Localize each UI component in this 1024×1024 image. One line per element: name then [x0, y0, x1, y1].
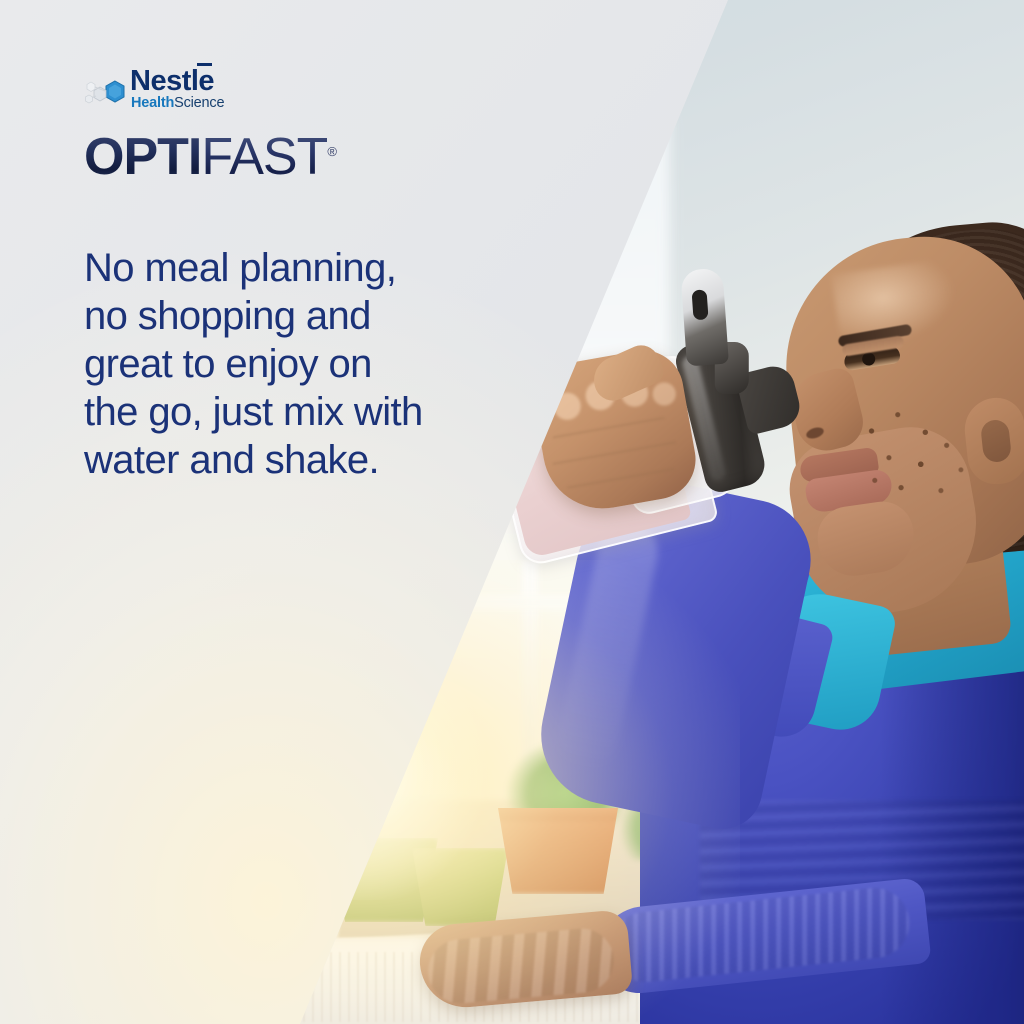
headline-line: the go, just mix with	[84, 388, 514, 436]
registered-trademark-icon: ®	[327, 144, 337, 159]
headline-text: No meal planning, no shopping and great …	[84, 244, 514, 484]
hexagon-molecule-icon	[84, 78, 132, 108]
optifast-logo: OPTIFAST®	[84, 126, 414, 178]
headline-line: No meal planning,	[84, 244, 514, 292]
science-word: Science	[174, 95, 224, 111]
nestle-wordmark: Nestle	[130, 64, 214, 98]
health-science-subtitle: HealthScience	[131, 95, 224, 112]
optifast-advertisement: Nestle HealthScience OPTIFAST® No meal p…	[0, 0, 1024, 1024]
brand-lockup: Nestle HealthScience OPTIFAST®	[84, 64, 414, 178]
health-word: Health	[131, 95, 174, 111]
optifast-opti: OPTI	[84, 128, 201, 186]
nestle-macron-accent	[197, 63, 212, 66]
headline-line: great to enjoy on	[84, 340, 514, 388]
bottle-lid-loop	[692, 289, 709, 320]
finger-separations	[552, 406, 676, 496]
freckles	[849, 388, 1004, 534]
optifast-fast: FAST	[201, 128, 327, 186]
headline-line: no shopping and	[84, 292, 514, 340]
nestle-wordmark-text: Nestle	[130, 65, 214, 97]
headline-line: water and shake.	[84, 436, 514, 484]
nestle-health-science-logo: Nestle HealthScience	[84, 64, 414, 114]
